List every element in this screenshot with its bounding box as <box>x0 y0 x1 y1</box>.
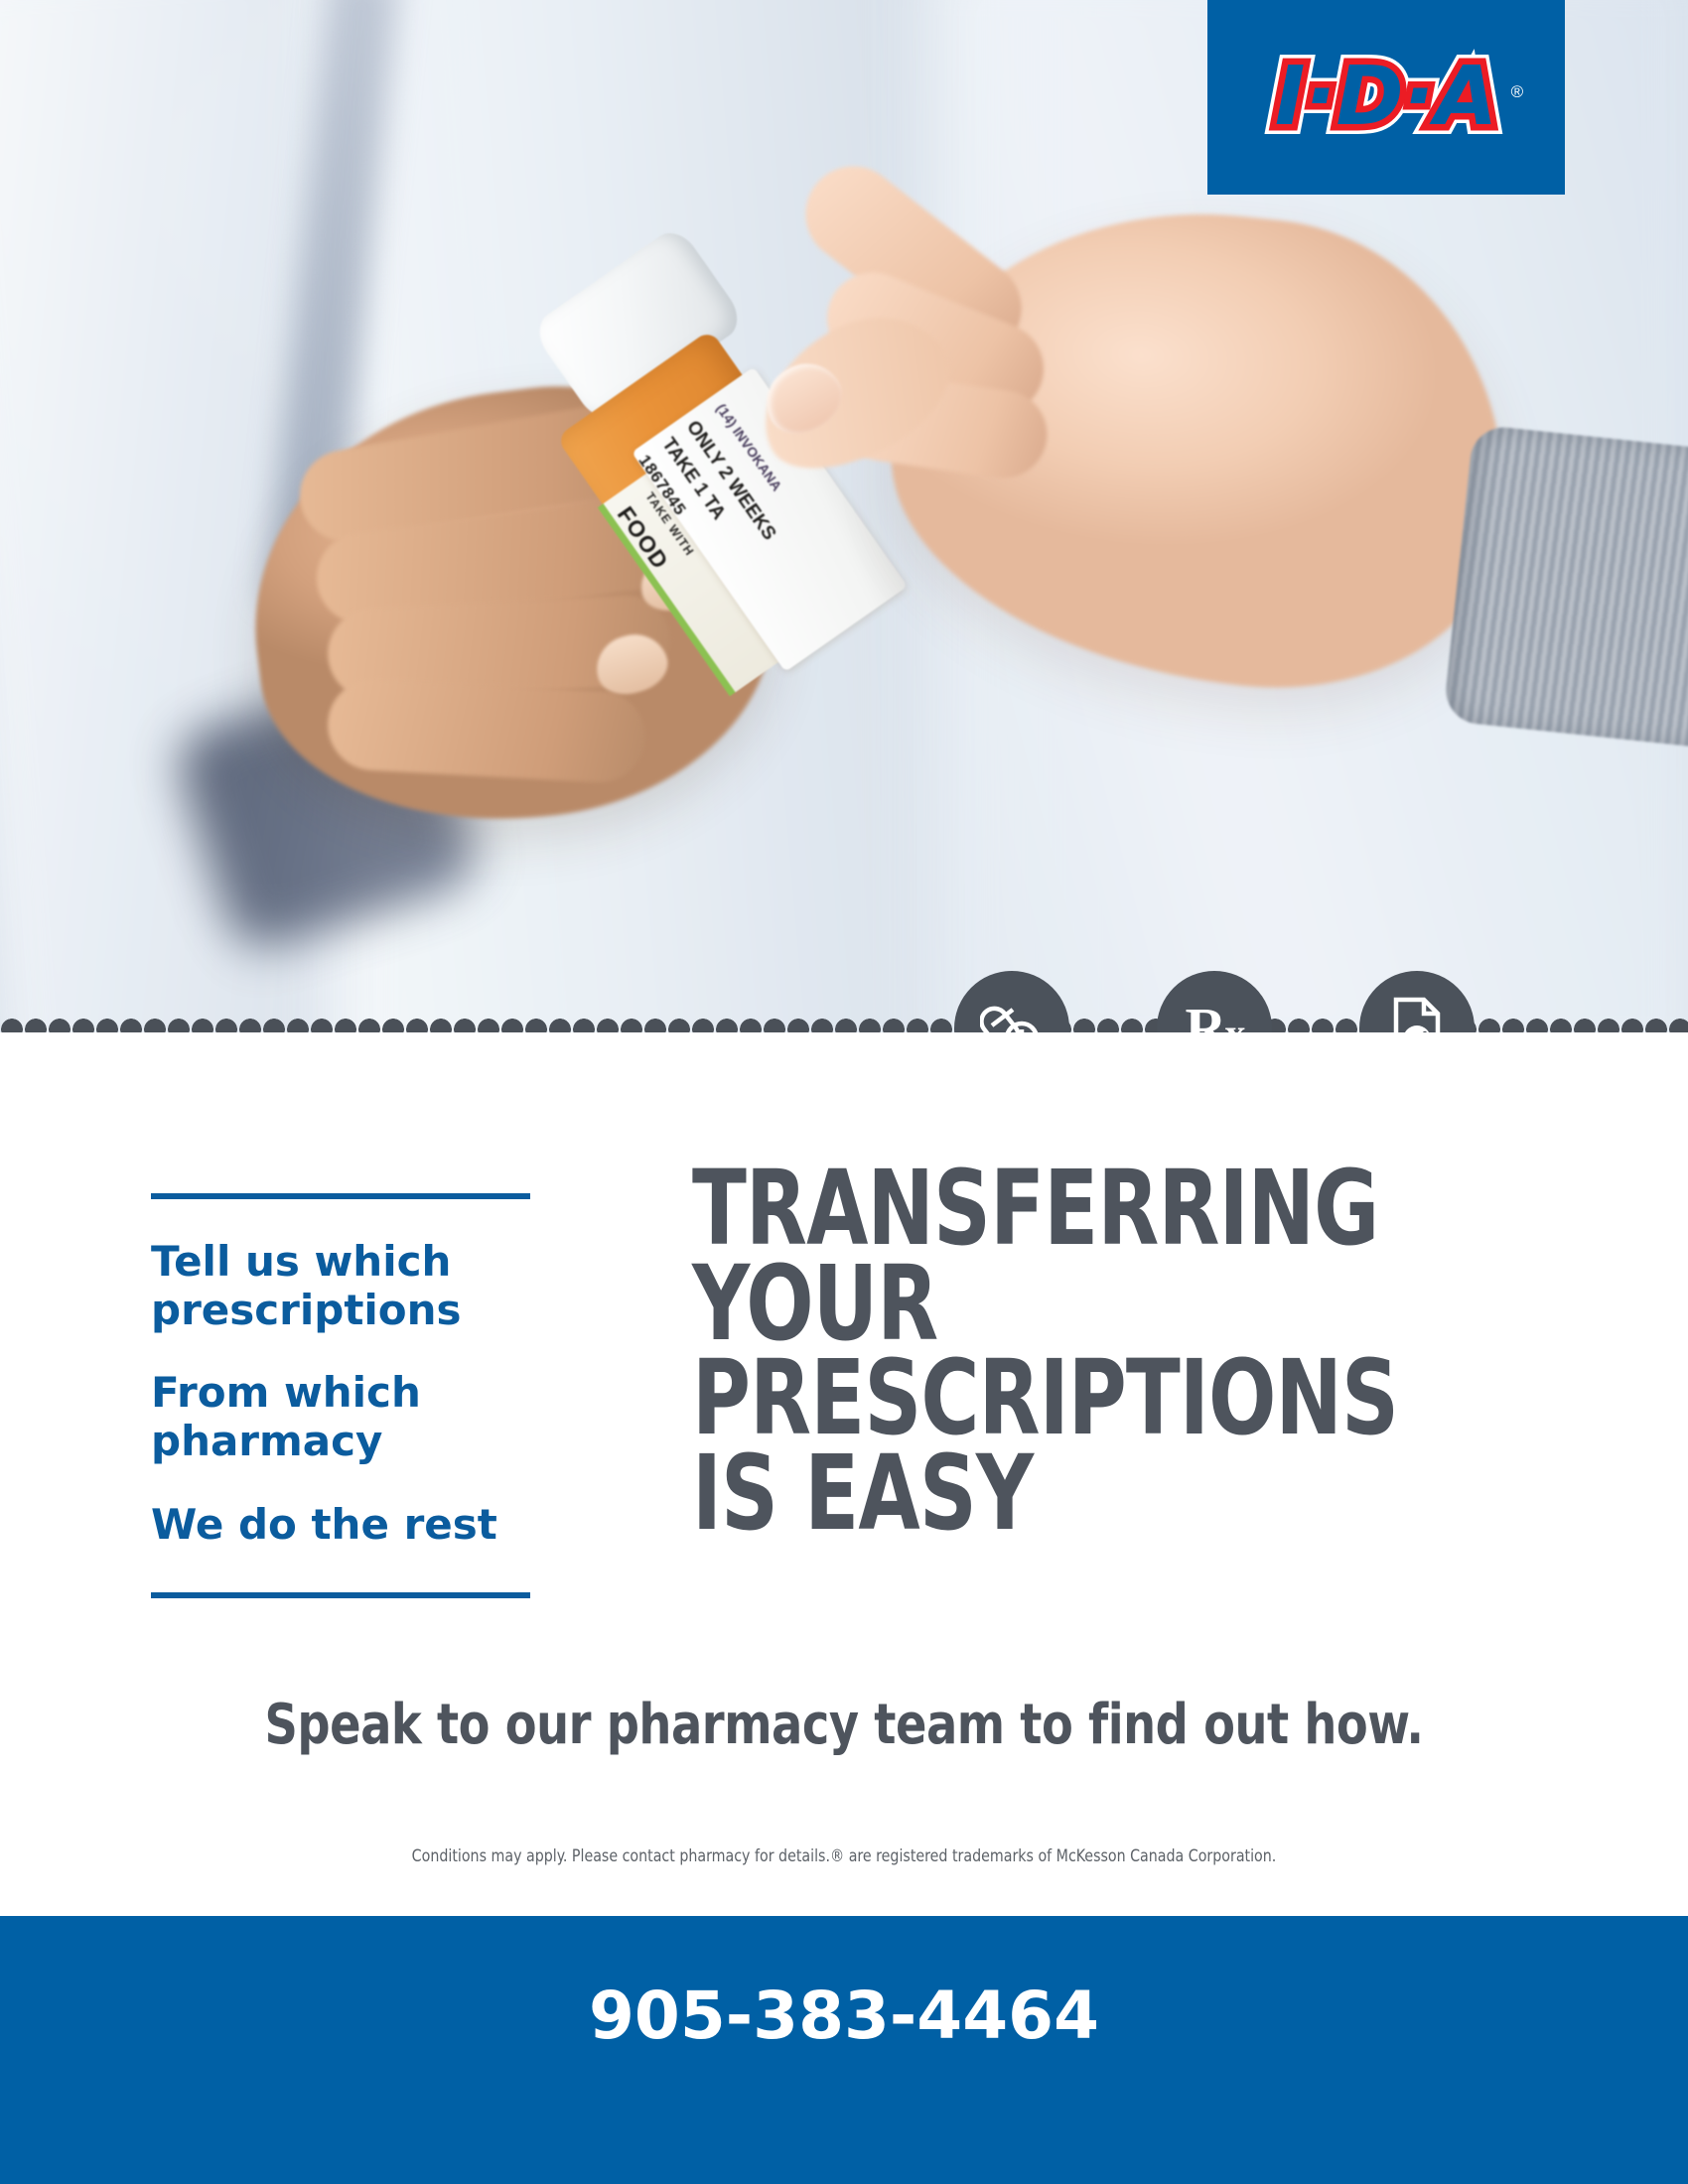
ida-logo: I·D·A I·D·A I·D·A ® <box>1207 0 1565 195</box>
poster-root: FOOD TAKE WITH 1867845 TAKE 1 TA ONLY 2 … <box>0 0 1688 2184</box>
logo-wordmark: I·D·A I·D·A I·D·A ® <box>1275 57 1497 138</box>
registered-mark: ® <box>1511 82 1524 102</box>
content-area: Tell us which prescriptions From which p… <box>0 1032 1688 1916</box>
bullet-rule-top <box>151 1193 530 1199</box>
finger <box>326 677 647 785</box>
bullet-rule-bottom <box>151 1592 530 1598</box>
knit-sleeve <box>1443 424 1688 748</box>
bullet-item-1: Tell us which prescriptions <box>151 1237 530 1334</box>
footer-bar: 905-383-4464 <box>0 1916 1688 2184</box>
bullet-list: Tell us which prescriptions From which p… <box>151 1193 530 1598</box>
headline-line-4: IS EASY <box>692 1446 1461 1542</box>
bullet-item-2: From which pharmacy <box>151 1368 530 1465</box>
phone-number[interactable]: 905-383-4464 <box>589 1978 1099 2054</box>
bullet-item-3: We do the rest <box>151 1500 530 1549</box>
page-title: TRANSFERRING YOUR PRESCRIPTIONS IS EASY <box>692 1161 1461 1542</box>
logo-fill: I·D·A <box>1275 57 1497 138</box>
fineprint-disclaimer: Conditions may apply. Please contact pha… <box>60 1846 1629 1866</box>
tagline: Speak to our pharmacy team to find out h… <box>68 1693 1620 1757</box>
